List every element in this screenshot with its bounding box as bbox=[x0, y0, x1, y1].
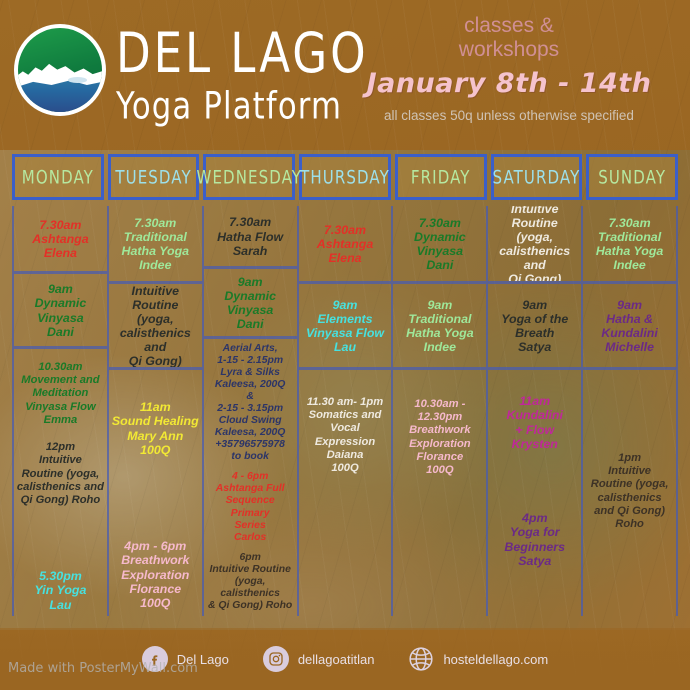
day-header-monday[interactable]: MONDAY bbox=[12, 154, 104, 200]
header-info: classes & workshops January 8th - 14th a… bbox=[344, 14, 674, 123]
footer-website[interactable]: hosteldellago.com bbox=[408, 646, 548, 672]
class-slot-afternoon-group: 11am Sound Healing Mary Ann 100Q4pm - 6p… bbox=[109, 370, 202, 616]
class-slot-morning[interactable]: 9am Traditional Hatha Yoga Indee bbox=[393, 284, 486, 370]
slot-spacer bbox=[299, 370, 392, 392]
class-slot[interactable]: 4pm - 6pm Breathwork Exploration Floranc… bbox=[109, 535, 202, 614]
poster-footer: Del Lago dellagoatitlan bbox=[0, 628, 690, 690]
instagram-label: dellagoatitlan bbox=[298, 652, 375, 667]
class-slot-early[interactable]: 7.30am Intuitive Routine (yoga, calisthe… bbox=[488, 206, 581, 284]
day-header-label: TUESDAY bbox=[115, 166, 191, 189]
day-header-label: SATURDAY bbox=[493, 166, 581, 189]
class-slot-afternoon-group: 10.30am - 12.30pm Breathwork Exploration… bbox=[393, 370, 486, 616]
slot-spacer bbox=[14, 511, 107, 565]
footer-instagram[interactable]: dellagoatitlan bbox=[263, 646, 375, 672]
class-slot-morning[interactable]: 9am Elements Vinyasa Flow Lau bbox=[299, 284, 392, 370]
class-slot[interactable]: 11am Kundalini + Flow Krysten bbox=[488, 390, 581, 455]
class-slot[interactable]: 10.30am - 12.30pm Breathwork Exploration… bbox=[393, 394, 486, 481]
class-slot-afternoon-group: 11.30 am- 1pm Somatics and Vocal Express… bbox=[299, 370, 392, 616]
pricing-note: all classes 50q unless otherwise specifi… bbox=[344, 108, 674, 123]
class-slot[interactable]: 6pm Intuitive Routine (yoga, calisthenic… bbox=[204, 548, 297, 616]
slot-spacer bbox=[109, 461, 202, 535]
lake-mountain-logo-icon bbox=[14, 24, 106, 116]
class-slot-afternoon-group: 1pm Intuitive Routine (yoga, calisthenic… bbox=[583, 370, 676, 616]
day-header-label: MONDAY bbox=[22, 166, 94, 189]
class-slot-early[interactable]: 7.30am Dynamic Vinyasa Dani bbox=[393, 206, 486, 284]
slot-spacer bbox=[14, 349, 107, 357]
class-slot[interactable]: 12pm Intuitive Routine (yoga, calistheni… bbox=[14, 437, 107, 511]
poster-root: DEL LAGO Yoga Platform classes & worksho… bbox=[0, 0, 690, 690]
class-slot-afternoon-group: 10.30am Movement and Meditation Vinyasa … bbox=[14, 349, 107, 616]
class-slot[interactable]: 5.30pm Yin Yoga Lau bbox=[14, 565, 107, 616]
class-slot-morning[interactable]: 9am Yoga of the Breath Satya bbox=[488, 284, 581, 370]
class-slot-morning[interactable]: 9am Hatha & Kundalini Michelle bbox=[583, 284, 676, 370]
class-slot-morning[interactable]: 9am Dynamic Vinyasa Dani bbox=[14, 274, 107, 349]
class-slot-early[interactable]: 7.30am Ashtanga Elena bbox=[299, 206, 392, 284]
slot-spacer bbox=[583, 370, 676, 448]
class-slot-morning[interactable]: 9am Dynamic Vinyasa Dani bbox=[204, 269, 297, 339]
date-range: January 8th - 14th bbox=[344, 68, 674, 99]
day-header-label: FRIDAY bbox=[411, 166, 471, 189]
day-header-sunday[interactable]: SUNDAY bbox=[586, 154, 678, 200]
slot-spacer bbox=[488, 370, 581, 390]
schedule-column-thursday: 7.30am Ashtanga Elena9am Elements Vinyas… bbox=[299, 206, 394, 616]
poster-header: DEL LAGO Yoga Platform classes & worksho… bbox=[0, 0, 690, 150]
instagram-icon bbox=[263, 646, 289, 672]
class-slot[interactable]: 1pm Intuitive Routine (yoga, calisthenic… bbox=[583, 448, 676, 535]
schedule-column-saturday: 7.30am Intuitive Routine (yoga, calisthe… bbox=[488, 206, 583, 616]
slot-spacer bbox=[393, 370, 486, 394]
classes-label: classes & bbox=[344, 14, 674, 38]
day-header-label: SUNDAY bbox=[598, 166, 666, 189]
class-slot-morning[interactable]: 9am Intuitive Routine (yoga, calisthenic… bbox=[109, 284, 202, 370]
class-slot-early[interactable]: 7.30am Traditional Hatha Yoga Indee bbox=[583, 206, 676, 284]
class-slot-afternoon-group: 11am Kundalini + Flow Krysten4pm Yoga fo… bbox=[488, 370, 581, 616]
globe-icon bbox=[408, 646, 434, 672]
workshops-label: workshops bbox=[344, 38, 674, 62]
class-slot-early[interactable]: 7.30am Hatha Flow Sarah bbox=[204, 206, 297, 269]
website-label: hosteldellago.com bbox=[443, 652, 548, 667]
slot-spacer bbox=[109, 370, 202, 396]
class-slot[interactable]: 11.30 am- 1pm Somatics and Vocal Express… bbox=[299, 392, 392, 479]
day-header-wednesday[interactable]: WEDNESDAY bbox=[203, 154, 295, 200]
schedule-column-friday: 7.30am Dynamic Vinyasa Dani9am Tradition… bbox=[393, 206, 488, 616]
schedule-column-monday: 7.30am Ashtanga Elena9am Dynamic Vinyasa… bbox=[12, 206, 109, 616]
slot-spacer bbox=[488, 455, 581, 507]
day-header-row: MONDAYTUESDAYWEDNESDAYTHURSDAYFRIDAYSATU… bbox=[12, 154, 678, 200]
class-slot-early[interactable]: 7.30am Traditional Hatha Yoga Indee bbox=[109, 206, 202, 284]
page-title: DEL LAGO bbox=[116, 26, 369, 81]
day-header-thursday[interactable]: THURSDAY bbox=[299, 154, 391, 200]
class-slot[interactable]: 4 - 6pm Ashtanga Full Sequence Primary S… bbox=[204, 467, 297, 547]
watermark: Made with PosterMyWall.com bbox=[8, 661, 198, 676]
day-header-saturday[interactable]: SATURDAY bbox=[491, 154, 583, 200]
brand-block: DEL LAGO Yoga Platform bbox=[14, 24, 379, 119]
class-slot-afternoon-group: Aerial Arts, 1-15 - 2.15pm Lyra & Silks … bbox=[204, 339, 297, 616]
day-header-tuesday[interactable]: TUESDAY bbox=[108, 154, 200, 200]
class-slot[interactable]: 10.30am Movement and Meditation Vinyasa … bbox=[14, 357, 107, 431]
day-header-label: THURSDAY bbox=[300, 166, 390, 189]
page-subtitle: Yoga Platform bbox=[116, 87, 369, 124]
day-header-label: WEDNESDAY bbox=[197, 166, 303, 189]
class-slot-early[interactable]: 7.30am Ashtanga Elena bbox=[14, 206, 107, 274]
schedule-grid: 7.30am Ashtanga Elena9am Dynamic Vinyasa… bbox=[12, 206, 678, 616]
class-slot[interactable]: Aerial Arts, 1-15 - 2.15pm Lyra & Silks … bbox=[204, 339, 297, 468]
class-slot[interactable]: 4pm Yoga for Beginners Satya bbox=[488, 507, 581, 572]
day-header-friday[interactable]: FRIDAY bbox=[395, 154, 487, 200]
schedule-column-sunday: 7.30am Traditional Hatha Yoga Indee9am H… bbox=[583, 206, 678, 616]
class-slot[interactable]: 11am Sound Healing Mary Ann 100Q bbox=[109, 396, 202, 461]
schedule-column-wednesday: 7.30am Hatha Flow Sarah9am Dynamic Vinya… bbox=[204, 206, 299, 616]
schedule-column-tuesday: 7.30am Traditional Hatha Yoga Indee9am I… bbox=[109, 206, 204, 616]
